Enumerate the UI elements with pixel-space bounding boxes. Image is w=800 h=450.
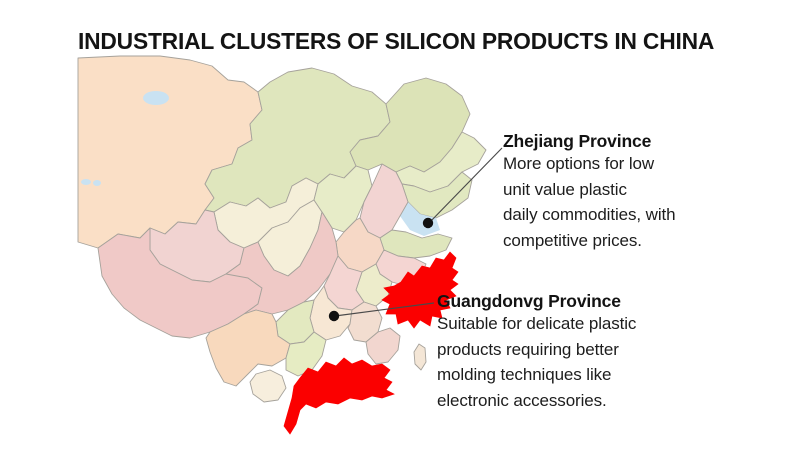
callout-zhejiang-body: More options for low unit value plastic … [503,151,675,253]
callout-zhejiang-line-4: competitive prices. [503,228,675,254]
callout-zhejiang-line-2: unit value plastic [503,177,675,203]
callout-zhejiang-line-1: More options for low [503,151,675,177]
water-lake-west-3 [93,180,101,186]
china-map [0,52,800,450]
callout-guangdong-line-2: products requiring better [437,337,636,363]
callout-guangdong-heading: Guangdonvg Province [437,291,636,311]
callout-zhejiang-line-3: daily commodities, with [503,202,675,228]
callout-zhejiang: Zhejiang Province More options for low u… [503,131,675,253]
province-hainan [250,370,286,402]
callout-guangdong-body: Suitable for delicate plastic products r… [437,311,636,413]
callout-guangdong-line-1: Suitable for delicate plastic [437,311,636,337]
page-title: INDUSTRIAL CLUSTERS OF SILICON PRODUCTS … [78,28,757,55]
china-map-svg [0,52,800,450]
callout-guangdong-line-4: electronic accessories. [437,388,636,414]
callout-zhejiang-heading: Zhejiang Province [503,131,675,151]
water-lake-west [143,91,169,105]
infographic-canvas: INDUSTRIAL CLUSTERS OF SILICON PRODUCTS … [0,0,800,450]
callout-guangdong-line-3: molding techniques like [437,362,636,388]
province-taiwan [414,344,426,370]
callout-guangdong: Guangdonvg Province Suitable for delicat… [437,291,636,413]
water-lake-west-2 [81,179,91,185]
